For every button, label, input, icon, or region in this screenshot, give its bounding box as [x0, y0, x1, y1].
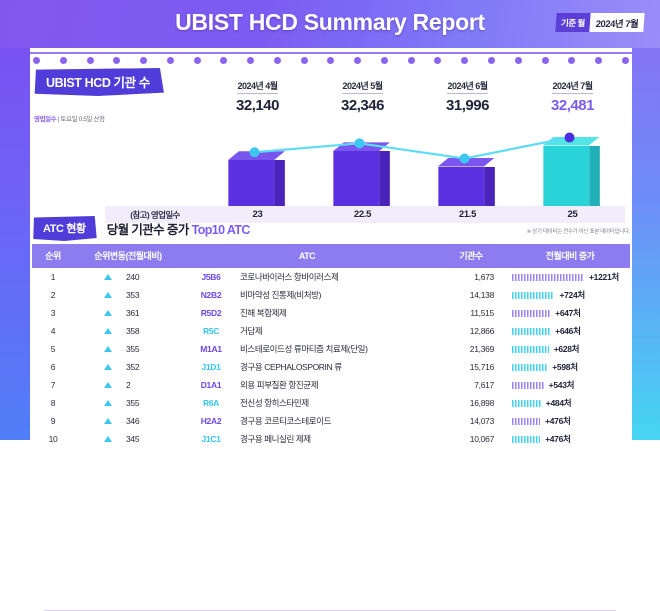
business-days-value: 25 [520, 209, 625, 220]
atc-section-title: 당월 기관수 증가 Top10 ATC [107, 219, 250, 238]
bar-slot [520, 118, 625, 206]
bar-side-face [274, 160, 285, 206]
month-value: 32,346 [310, 97, 415, 114]
cell-rank-change: 355 [74, 398, 182, 408]
col-rank: 순위 [32, 244, 74, 268]
bar-front-face [543, 146, 589, 207]
month-value: 32,140 [205, 97, 310, 114]
cell-count: 1,673 [432, 268, 510, 286]
table-row[interactable]: 2353N2B2비마약성 진통제(비처방)14,138+724처 [32, 286, 630, 304]
cell-delta: +1221처 [510, 271, 630, 283]
month-column: 2024년 6월31,996 [415, 76, 520, 112]
cell-rank-change: 353 [74, 290, 182, 300]
cell-count: 16,898 [432, 394, 510, 412]
rank-change-value: 355 [126, 398, 152, 408]
delta-value: +476처 [545, 415, 570, 427]
atc-code: R5C [182, 326, 240, 336]
delta-meter [512, 292, 554, 299]
cell-atc: R5D2진해 복합제제 [182, 307, 432, 319]
divider-dots [30, 57, 632, 66]
month-label: 2024년 6월 [447, 79, 487, 94]
chart-bar [333, 142, 390, 206]
bar-top-face [438, 158, 495, 167]
report-page: UBIST HCD Summary Report 기준 월 2024년 7월 U… [0, 0, 660, 440]
atc-code: N2B2 [182, 290, 240, 300]
reference-month-value: 2024년 7월 [589, 13, 645, 32]
delta-meter [512, 418, 540, 425]
table-row[interactable]: 3361R5D2진해 복합제제11,515+647처 [32, 304, 630, 322]
arrow-up-icon [104, 436, 112, 442]
cell-atc: J5B6코로나바이러스 항바이러스제 [182, 271, 432, 283]
left-gradient-edge [0, 0, 30, 440]
cell-rank: 1 [32, 268, 74, 286]
col-count: 기관수 [432, 244, 510, 268]
cell-rank: 10 [32, 430, 74, 448]
table-row[interactable]: 72D1A1외용 피부질환 항진균제7,617+543처 [32, 376, 630, 394]
atc-name: 진해 복합제제 [240, 307, 432, 319]
atc-code: R6A [182, 398, 240, 408]
cell-delta: +628처 [510, 343, 630, 355]
chart-bar [543, 137, 600, 207]
delta-value: +484처 [546, 397, 571, 409]
hcd-section-header: UBIST HCD 기관 수 [32, 68, 164, 96]
hcd-section-badge: UBIST HCD 기관 수 [32, 68, 164, 96]
subnote-text: | 토요일 0.5일 산정 [58, 116, 105, 123]
cell-rank: 2 [32, 286, 74, 304]
month-value: 32,481 [520, 97, 625, 114]
arrow-up-icon [104, 400, 112, 406]
arrow-up-icon [104, 274, 112, 280]
atc-code: D1A1 [182, 380, 240, 390]
decorative-dot-divider [30, 52, 632, 66]
atc-title-main: 당월 기관수 증가 [107, 223, 192, 237]
institution-bar-chart [205, 118, 625, 206]
arrow-up-icon [104, 382, 112, 388]
table-head: 순위 순위변동(전월대비) ATC 기관수 전월대비 증가 [32, 244, 630, 268]
table-row[interactable]: 1240J5B6코로나바이러스 항바이러스제1,673+1221처 [32, 268, 630, 286]
chart-bar [228, 151, 285, 206]
bar-side-face [484, 167, 495, 206]
atc-section-header: ATC 현황 당월 기관수 증가 Top10 ATC [32, 216, 250, 241]
rank-change-value: 352 [126, 362, 152, 372]
delta-meter [512, 364, 547, 371]
col-atc: ATC [182, 244, 432, 268]
bar-front-face [438, 167, 484, 206]
arrow-up-icon [104, 364, 112, 370]
arrow-up-icon [104, 292, 112, 298]
bar-side-face [589, 146, 600, 207]
delta-value: +724처 [559, 289, 584, 301]
delta-meter [512, 382, 544, 389]
cell-atc: R5C거담제 [182, 325, 432, 337]
arrow-up-icon [104, 418, 112, 424]
atc-code: J1C1 [182, 434, 240, 444]
subnote-label: 영업일수 [34, 116, 56, 123]
table-row[interactable]: 5355M1A1비스테로이드성 류마티즘 치료제(단일)21,369+628처 [32, 340, 630, 358]
cell-rank-change: 358 [74, 326, 182, 336]
bar-slot [205, 118, 310, 206]
bar-slot [415, 118, 520, 206]
atc-name: 비마약성 진통제(비처방) [240, 289, 432, 301]
cell-rank: 6 [32, 358, 74, 376]
reference-month-label: 기준 월 [555, 13, 590, 32]
rank-change-value: 240 [126, 272, 152, 282]
atc-name: 전신성 항히스타민제 [240, 397, 432, 409]
cell-count: 15,716 [432, 358, 510, 376]
month-label: 2024년 7월 [552, 79, 592, 94]
atc-code: J1D1 [182, 362, 240, 372]
delta-value: +647처 [555, 307, 580, 319]
cell-delta: +647처 [510, 307, 630, 319]
right-gradient-edge [632, 0, 660, 440]
hcd-institution-section: UBIST HCD 기관 수 영업일수 | 토요일 0.5일 산정 2024년 … [30, 68, 632, 238]
month-label: 2024년 4월 [237, 79, 277, 94]
bar-top-face [228, 151, 285, 160]
delta-meter [512, 274, 584, 281]
cell-count: 7,617 [432, 376, 510, 394]
delta-meter [512, 400, 541, 407]
cell-atc: H2A2경구용 코르티코스테로이드 [182, 415, 432, 427]
cell-atc: J1D1경구용 CEPHALOSPORIN 류 [182, 361, 432, 373]
table-header-row: 순위 순위변동(전월대비) ATC 기관수 전월대비 증가 [32, 244, 630, 268]
atc-section-badge: ATC 현황 [32, 216, 97, 241]
month-label: 2024년 5월 [342, 79, 382, 94]
cell-rank: 5 [32, 340, 74, 358]
cell-count: 11,515 [432, 304, 510, 322]
rank-change-value: 346 [126, 416, 152, 426]
cell-rank: 3 [32, 304, 74, 322]
arrow-up-icon [104, 310, 112, 316]
cell-delta: +724처 [510, 289, 630, 301]
delta-value: +476처 [545, 433, 570, 445]
table-row[interactable]: 6352J1D1경구용 CEPHALOSPORIN 류15,716+598처 [32, 358, 630, 376]
atc-name: 비스테로이드성 류마티즘 치료제(단일) [240, 343, 432, 355]
cell-delta: +646처 [510, 325, 630, 337]
delta-value: +646처 [555, 325, 580, 337]
business-days-value: 22.5 [310, 209, 415, 220]
delta-meter [512, 328, 550, 335]
atc-code: H2A2 [182, 416, 240, 426]
delta-meter [512, 346, 549, 353]
month-column: 2024년 5월32,346 [310, 76, 415, 112]
cell-rank-change: 352 [74, 362, 182, 372]
cell-atc: D1A1외용 피부질환 항진균제 [182, 379, 432, 391]
rank-change-value: 361 [126, 308, 152, 318]
col-rank-change: 순위변동(전월대비) [74, 244, 182, 268]
table-row[interactable]: 4358R5C거담제12,866+646처 [32, 322, 630, 340]
rank-change-value: 353 [126, 290, 152, 300]
month-column: 2024년 7월32,481 [520, 76, 625, 112]
atc-code: M1A1 [182, 344, 240, 354]
atc-name: 경구용 페니실린 제제 [240, 433, 432, 445]
cell-rank-change: 240 [74, 272, 182, 282]
cell-count: 14,073 [432, 412, 510, 430]
bar-top-face [543, 137, 600, 146]
page-header: UBIST HCD Summary Report 기준 월 2024년 7월 [0, 0, 660, 48]
chart-bars [205, 118, 625, 206]
bar-top-face [333, 142, 390, 151]
atc-name: 코로나바이러스 항바이러스제 [240, 271, 432, 283]
month-columns: 2024년 4월32,1402024년 5월32,3462024년 6월31,9… [205, 76, 625, 112]
cell-atc: M1A1비스테로이드성 류마티즘 치료제(단일) [182, 343, 432, 355]
atc-name: 거담제 [240, 325, 432, 337]
atc-name: 경구용 코르티코스테로이드 [240, 415, 432, 427]
cell-count: 14,138 [432, 286, 510, 304]
atc-sampling-note: ※ 상기 데이터는 전수가 아닌 표본 데이터입니다. [527, 227, 630, 235]
cell-rank: 9 [32, 412, 74, 430]
month-column: 2024년 4월32,140 [205, 76, 310, 112]
delta-meter [512, 310, 550, 317]
delta-value: +598처 [552, 361, 577, 373]
cell-rank-change: 346 [74, 416, 182, 426]
cell-rank: 7 [32, 376, 74, 394]
bar-front-face [333, 151, 379, 206]
chart-bar [438, 158, 495, 206]
table-row[interactable]: 9346H2A2경구용 코르티코스테로이드14,073+476처 [32, 412, 630, 430]
cell-count: 21,369 [432, 340, 510, 358]
cell-rank: 4 [32, 322, 74, 340]
cell-rank: 8 [32, 394, 74, 412]
cell-rank-change: 355 [74, 344, 182, 354]
arrow-up-icon [104, 328, 112, 334]
table-body: 1240J5B6코로나바이러스 항바이러스제1,673+1221처2353N2B… [32, 268, 630, 448]
divider-rule [30, 52, 632, 54]
rank-change-value: 358 [126, 326, 152, 336]
delta-value: +543처 [549, 379, 574, 391]
atc-code: R5D2 [182, 308, 240, 318]
cell-rank-change: 361 [74, 308, 182, 318]
cell-delta: +598처 [510, 361, 630, 373]
reference-month-badge: 기준 월 2024년 7월 [555, 13, 645, 32]
table-row[interactable]: 10345J1C1경구용 페니실린 제제10,067+476처 [32, 430, 630, 448]
report-card: UBIST HCD 기관 수 영업일수 | 토요일 0.5일 산정 2024년 … [30, 48, 632, 440]
delta-value: +1221처 [589, 271, 619, 283]
col-delta: 전월대비 증가 [510, 244, 630, 268]
rank-change-value: 2 [126, 380, 152, 390]
cell-atc: N2B2비마약성 진통제(비처방) [182, 289, 432, 301]
cell-delta: +476처 [510, 433, 630, 445]
arrow-up-icon [104, 346, 112, 352]
delta-meter [512, 436, 540, 443]
business-days-value: 21.5 [415, 209, 520, 220]
rank-change-value: 345 [126, 434, 152, 444]
atc-name: 경구용 CEPHALOSPORIN 류 [240, 361, 432, 373]
rank-change-value: 355 [126, 344, 152, 354]
delta-value: +628처 [554, 343, 579, 355]
atc-code: J5B6 [182, 272, 240, 282]
month-value: 31,996 [415, 97, 520, 114]
cell-rank-change: 2 [74, 380, 182, 390]
bar-side-face [379, 151, 390, 206]
cell-count: 10,067 [432, 430, 510, 448]
table-row[interactable]: 8355R6A전신성 항히스타민제16,898+484처 [32, 394, 630, 412]
atc-top10-table: 순위 순위변동(전월대비) ATC 기관수 전월대비 증가 1240J5B6코로… [32, 244, 630, 448]
atc-name: 외용 피부질환 항진균제 [240, 379, 432, 391]
business-days-values: 2322.521.525 [205, 209, 625, 220]
bar-front-face [228, 160, 274, 206]
cell-delta: +484처 [510, 397, 630, 409]
cell-rank-change: 345 [74, 434, 182, 444]
cell-atc: J1C1경구용 페니실린 제제 [182, 433, 432, 445]
hcd-section-subnote: 영업일수 | 토요일 0.5일 산정 [34, 113, 105, 123]
cell-delta: +543처 [510, 379, 630, 391]
cell-delta: +476처 [510, 415, 630, 427]
atc-title-highlight: Top10 ATC [192, 223, 250, 237]
cell-count: 12,866 [432, 322, 510, 340]
bar-slot [310, 118, 415, 206]
cell-atc: R6A전신성 항히스타민제 [182, 397, 432, 409]
